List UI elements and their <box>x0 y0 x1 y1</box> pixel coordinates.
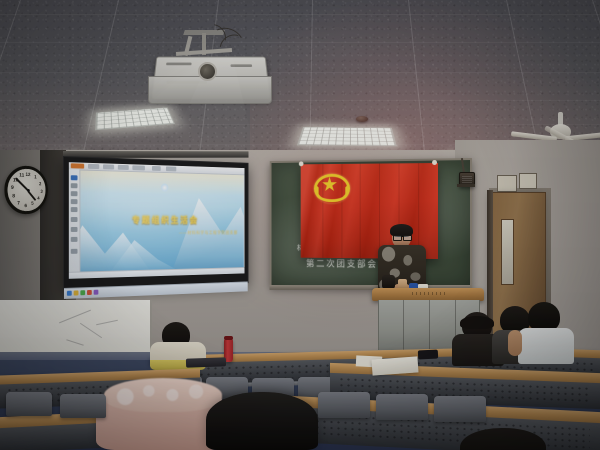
speaker-bracket <box>457 184 475 187</box>
pencil-case[interactable] <box>186 357 226 367</box>
clock-numeral: 12 <box>25 172 30 178</box>
seat[interactable] <box>434 396 486 422</box>
ribbon-tab-home[interactable] <box>88 164 99 169</box>
seat[interactable] <box>6 392 52 416</box>
rail-tool-7-icon[interactable] <box>71 227 78 232</box>
clock-numeral: 1 <box>34 175 36 181</box>
rail-tool-6-icon[interactable] <box>71 217 78 222</box>
text-tool-icon[interactable] <box>71 199 78 204</box>
clock-numeral: 9 <box>11 185 14 191</box>
seat[interactable] <box>376 394 428 420</box>
clock-numeral: 4 <box>37 196 39 202</box>
clock-numeral: 8 <box>12 193 15 199</box>
slide-subtitle: ——材料科学与工程学院团支部 <box>133 230 238 236</box>
seat[interactable] <box>318 392 370 418</box>
clock-numeral: 3 <box>40 189 42 195</box>
projection-screen: 专题组织生活会 ——材料科学与工程学院团支部 <box>63 156 249 290</box>
ppt-icon[interactable] <box>87 290 92 295</box>
phone[interactable] <box>418 349 438 359</box>
glasses-icon <box>393 235 410 239</box>
browser-icon[interactable] <box>80 290 85 295</box>
student-glasses-right-hair <box>460 316 494 329</box>
student-pink-hood-fur <box>104 378 222 412</box>
lectern-vent <box>412 292 446 295</box>
rail-tool-9-icon[interactable] <box>71 249 78 254</box>
clock-center-pin <box>27 188 30 191</box>
door-transom-panel <box>519 173 537 189</box>
explorer-icon[interactable] <box>74 290 79 295</box>
shape-tool-icon[interactable] <box>71 191 78 196</box>
pen-tool-icon[interactable] <box>71 183 78 188</box>
media-icon[interactable] <box>94 290 99 295</box>
projector-lens-icon <box>198 62 217 81</box>
powerpoint-tool-rail <box>69 169 81 273</box>
powerpoint-window: 专题组织生活会 ——材料科学与工程学院团支部 <box>69 162 245 279</box>
ribbon-tab-review[interactable] <box>152 166 161 171</box>
slide-canvas[interactable]: 专题组织生活会 ——材料科学与工程学院团支部 <box>80 171 243 272</box>
lecture-hall-photo: 12 1 2 3 4 5 6 7 8 9 10 11 <box>0 0 600 450</box>
door-transom-panel <box>497 175 517 192</box>
slide-title: 专题组织生活会 <box>91 213 235 226</box>
start-icon[interactable] <box>67 291 72 296</box>
ribbon-tab-file[interactable] <box>71 163 84 168</box>
student-white-shirt-right-arm <box>508 330 522 356</box>
flag-pin <box>432 160 437 165</box>
ribbon-tab-view[interactable] <box>166 166 176 171</box>
highlight-tool-icon[interactable] <box>71 207 78 212</box>
clock-numeral: 6 <box>24 203 27 209</box>
papers-stack[interactable] <box>371 356 418 375</box>
ceiling-projector <box>146 30 270 102</box>
wall-clock: 12 1 2 3 4 5 6 7 8 9 10 11 <box>4 164 47 217</box>
clock-face: 12 1 2 3 4 5 6 7 8 9 10 11 <box>4 164 47 217</box>
clock-hour-hand <box>27 190 36 201</box>
door-glass-panel <box>501 219 514 285</box>
rail-tool-8-icon[interactable] <box>71 237 78 242</box>
student-white-shirt-right-body <box>518 328 574 364</box>
ribbon-tab-design[interactable] <box>118 165 129 170</box>
ribbon-tab-insert[interactable] <box>103 164 114 169</box>
select-tool-icon[interactable] <box>71 175 78 180</box>
student-dark-hair-front-head <box>206 392 318 450</box>
microphone-icon <box>382 275 395 289</box>
seat[interactable] <box>60 394 106 418</box>
clock-numeral: 5 <box>31 201 33 207</box>
slide-sun-icon <box>161 183 169 192</box>
clock-numeral: 11 <box>19 173 24 179</box>
clock-numeral: 2 <box>39 182 41 188</box>
flag-pin <box>299 161 304 166</box>
chalkboard-line-2: 第二次团支部会议 <box>306 257 388 270</box>
clock-numeral: 7 <box>17 200 20 206</box>
ribbon-tab-slideshow[interactable] <box>132 165 145 170</box>
youth-league-emblem-icon <box>314 170 346 200</box>
